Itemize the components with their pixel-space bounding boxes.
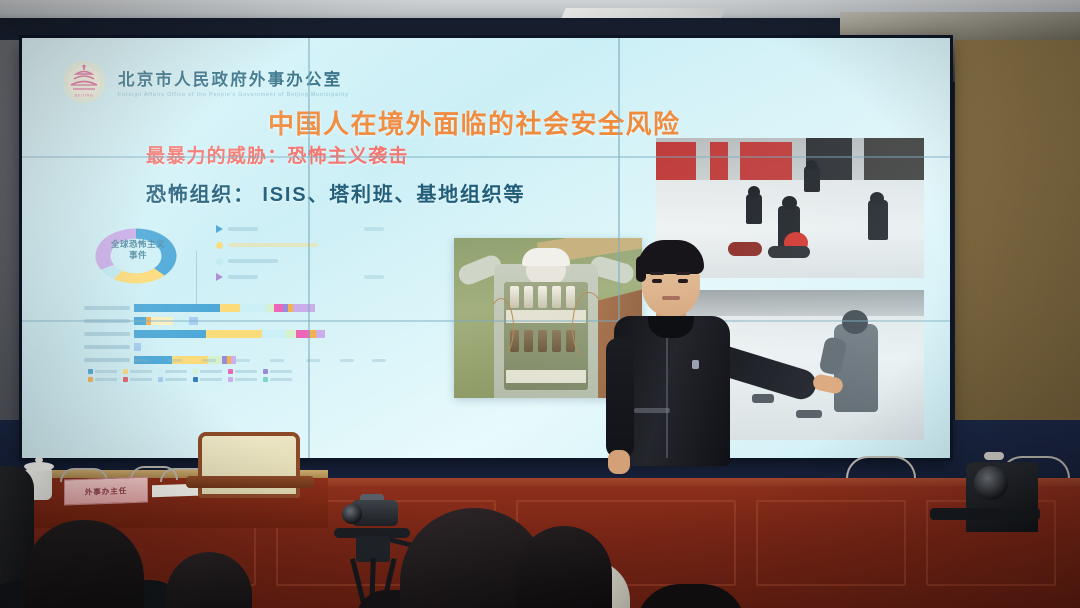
legend-swatch xyxy=(88,369,93,374)
legend-swatch-label xyxy=(165,370,187,373)
donut-chart-label: 全球恐怖主义事件 xyxy=(108,239,168,260)
camera-lens xyxy=(342,504,362,524)
conference-room-scene: BEIJING 北京市人民政府外事办公室 Foreign Affairs Off… xyxy=(0,0,1080,608)
bar-segment xyxy=(316,330,325,338)
chart-x-axis xyxy=(134,359,384,363)
bar-category-label xyxy=(84,332,130,336)
legend-swatch xyxy=(193,377,198,382)
chevron-right-icon xyxy=(216,225,223,233)
terrorism-infographic: 全球恐怖主义事件 xyxy=(84,221,384,381)
legend-swatch xyxy=(193,369,198,374)
legend-swatch xyxy=(123,369,128,374)
bar-segment xyxy=(134,343,141,351)
bar-category-label xyxy=(84,345,130,349)
bar-segment xyxy=(206,330,262,338)
bar-category-label xyxy=(84,306,130,310)
jacket-badge xyxy=(692,360,699,369)
teacup-lid xyxy=(24,462,54,471)
legend-value xyxy=(364,275,384,279)
bar-segment xyxy=(262,330,286,338)
legend-swatch xyxy=(263,377,268,382)
legend-label xyxy=(228,227,258,231)
chart-reference-line xyxy=(196,251,197,309)
presenter-left-hand xyxy=(608,450,630,474)
svg-text:BEIJING: BEIJING xyxy=(74,93,93,98)
legend-swatch-label xyxy=(235,370,257,373)
bar-segment xyxy=(220,304,240,312)
chair-armrest xyxy=(186,476,314,488)
legend-row xyxy=(216,271,384,283)
legend-swatch-item xyxy=(263,377,292,382)
bar-segment xyxy=(134,304,220,312)
legend-label xyxy=(228,275,258,279)
stacked-bar xyxy=(134,343,141,351)
legend-row xyxy=(216,239,384,251)
chevron-right-icon xyxy=(216,273,223,281)
donut-chart: 全球恐怖主义事件 xyxy=(84,221,188,291)
legend-swatch-label xyxy=(270,370,292,373)
nameplate-text: 外事办主任 xyxy=(85,485,128,497)
legend-swatch-label xyxy=(130,370,152,373)
legend-value xyxy=(364,227,384,231)
legend-swatch-label xyxy=(270,378,292,381)
legend-swatch-item xyxy=(193,369,222,374)
legend-swatch-label xyxy=(200,378,222,381)
slide-brand-header: BEIJING 北京市人民政府外事办公室 Foreign Affairs Off… xyxy=(62,60,349,104)
legend-row xyxy=(216,223,384,235)
legend-swatch xyxy=(263,369,268,374)
nameplate: 外事办主任 xyxy=(64,477,148,506)
bar-segment xyxy=(293,304,315,312)
legend-swatch-label xyxy=(235,378,257,381)
podium-panel xyxy=(756,500,906,586)
display-seam xyxy=(22,156,950,158)
brand-name-cn: 北京市人民政府外事办公室 xyxy=(118,66,349,90)
legend-swatch-item xyxy=(123,377,152,382)
right-camera-lens xyxy=(974,466,1008,500)
infographic-footer-legend xyxy=(88,369,384,385)
presenter-left-arm xyxy=(606,338,634,458)
stacked-bar xyxy=(134,304,315,312)
legend-label xyxy=(228,259,278,263)
legend-swatch-item xyxy=(88,377,117,382)
bar-category-label xyxy=(84,358,130,362)
brand-org-names: 北京市人民政府外事办公室 Foreign Affairs Office of t… xyxy=(118,66,349,98)
brand-name-en: Foreign Affairs Office of the People's G… xyxy=(118,92,349,98)
legend-swatch-item xyxy=(88,369,117,374)
bar-segment xyxy=(134,330,206,338)
legend-swatch-label xyxy=(95,378,117,381)
legend-swatch xyxy=(88,377,93,382)
legend-swatch-item xyxy=(158,369,187,374)
infographic-legend xyxy=(216,223,384,287)
legend-swatch xyxy=(228,369,233,374)
right-rig-bar xyxy=(930,508,1040,520)
legend-swatch xyxy=(158,369,163,374)
legend-swatch-label xyxy=(200,370,222,373)
podium-microphone xyxy=(846,456,916,478)
legend-row xyxy=(216,255,384,267)
legend-swatch-label xyxy=(130,378,152,381)
teacup-knob xyxy=(35,457,43,463)
presenter xyxy=(600,238,830,488)
conference-chair xyxy=(198,432,300,498)
bar-segment xyxy=(286,330,296,338)
slide-body-line: 恐怖组织： ISIS、塔利班、基地组织等 xyxy=(146,178,525,207)
bar-row xyxy=(84,329,384,339)
bar-segment xyxy=(274,304,283,312)
legend-swatch-item xyxy=(228,369,257,374)
bar-row xyxy=(84,342,384,352)
slide-subtitle: 最暴力的威胁：恐怖主义袭击 xyxy=(146,141,409,168)
legend-swatch-item xyxy=(193,377,222,382)
stacked-bar-chart xyxy=(84,303,384,365)
legend-swatch-item xyxy=(158,377,187,382)
legend-swatch-item xyxy=(123,369,152,374)
display-seam xyxy=(308,38,310,458)
legend-swatch xyxy=(123,377,128,382)
legend-swatch-item xyxy=(263,369,292,374)
bar-segment xyxy=(240,304,266,312)
bar-row xyxy=(84,303,384,313)
stacked-bar xyxy=(134,330,325,338)
beijing-temple-of-heaven-logo: BEIJING xyxy=(62,60,106,104)
legend-swatch xyxy=(228,377,233,382)
legend-dot-icon xyxy=(216,242,223,249)
legend-dot-icon xyxy=(216,258,223,265)
legend-swatch-item xyxy=(228,377,257,382)
legend-swatch xyxy=(158,377,163,382)
legend-swatch-label xyxy=(165,378,187,381)
bar-segment xyxy=(266,304,274,312)
legend-swatch-label xyxy=(95,370,117,373)
legend-label xyxy=(228,243,318,247)
microphone-capsule xyxy=(984,452,1004,460)
